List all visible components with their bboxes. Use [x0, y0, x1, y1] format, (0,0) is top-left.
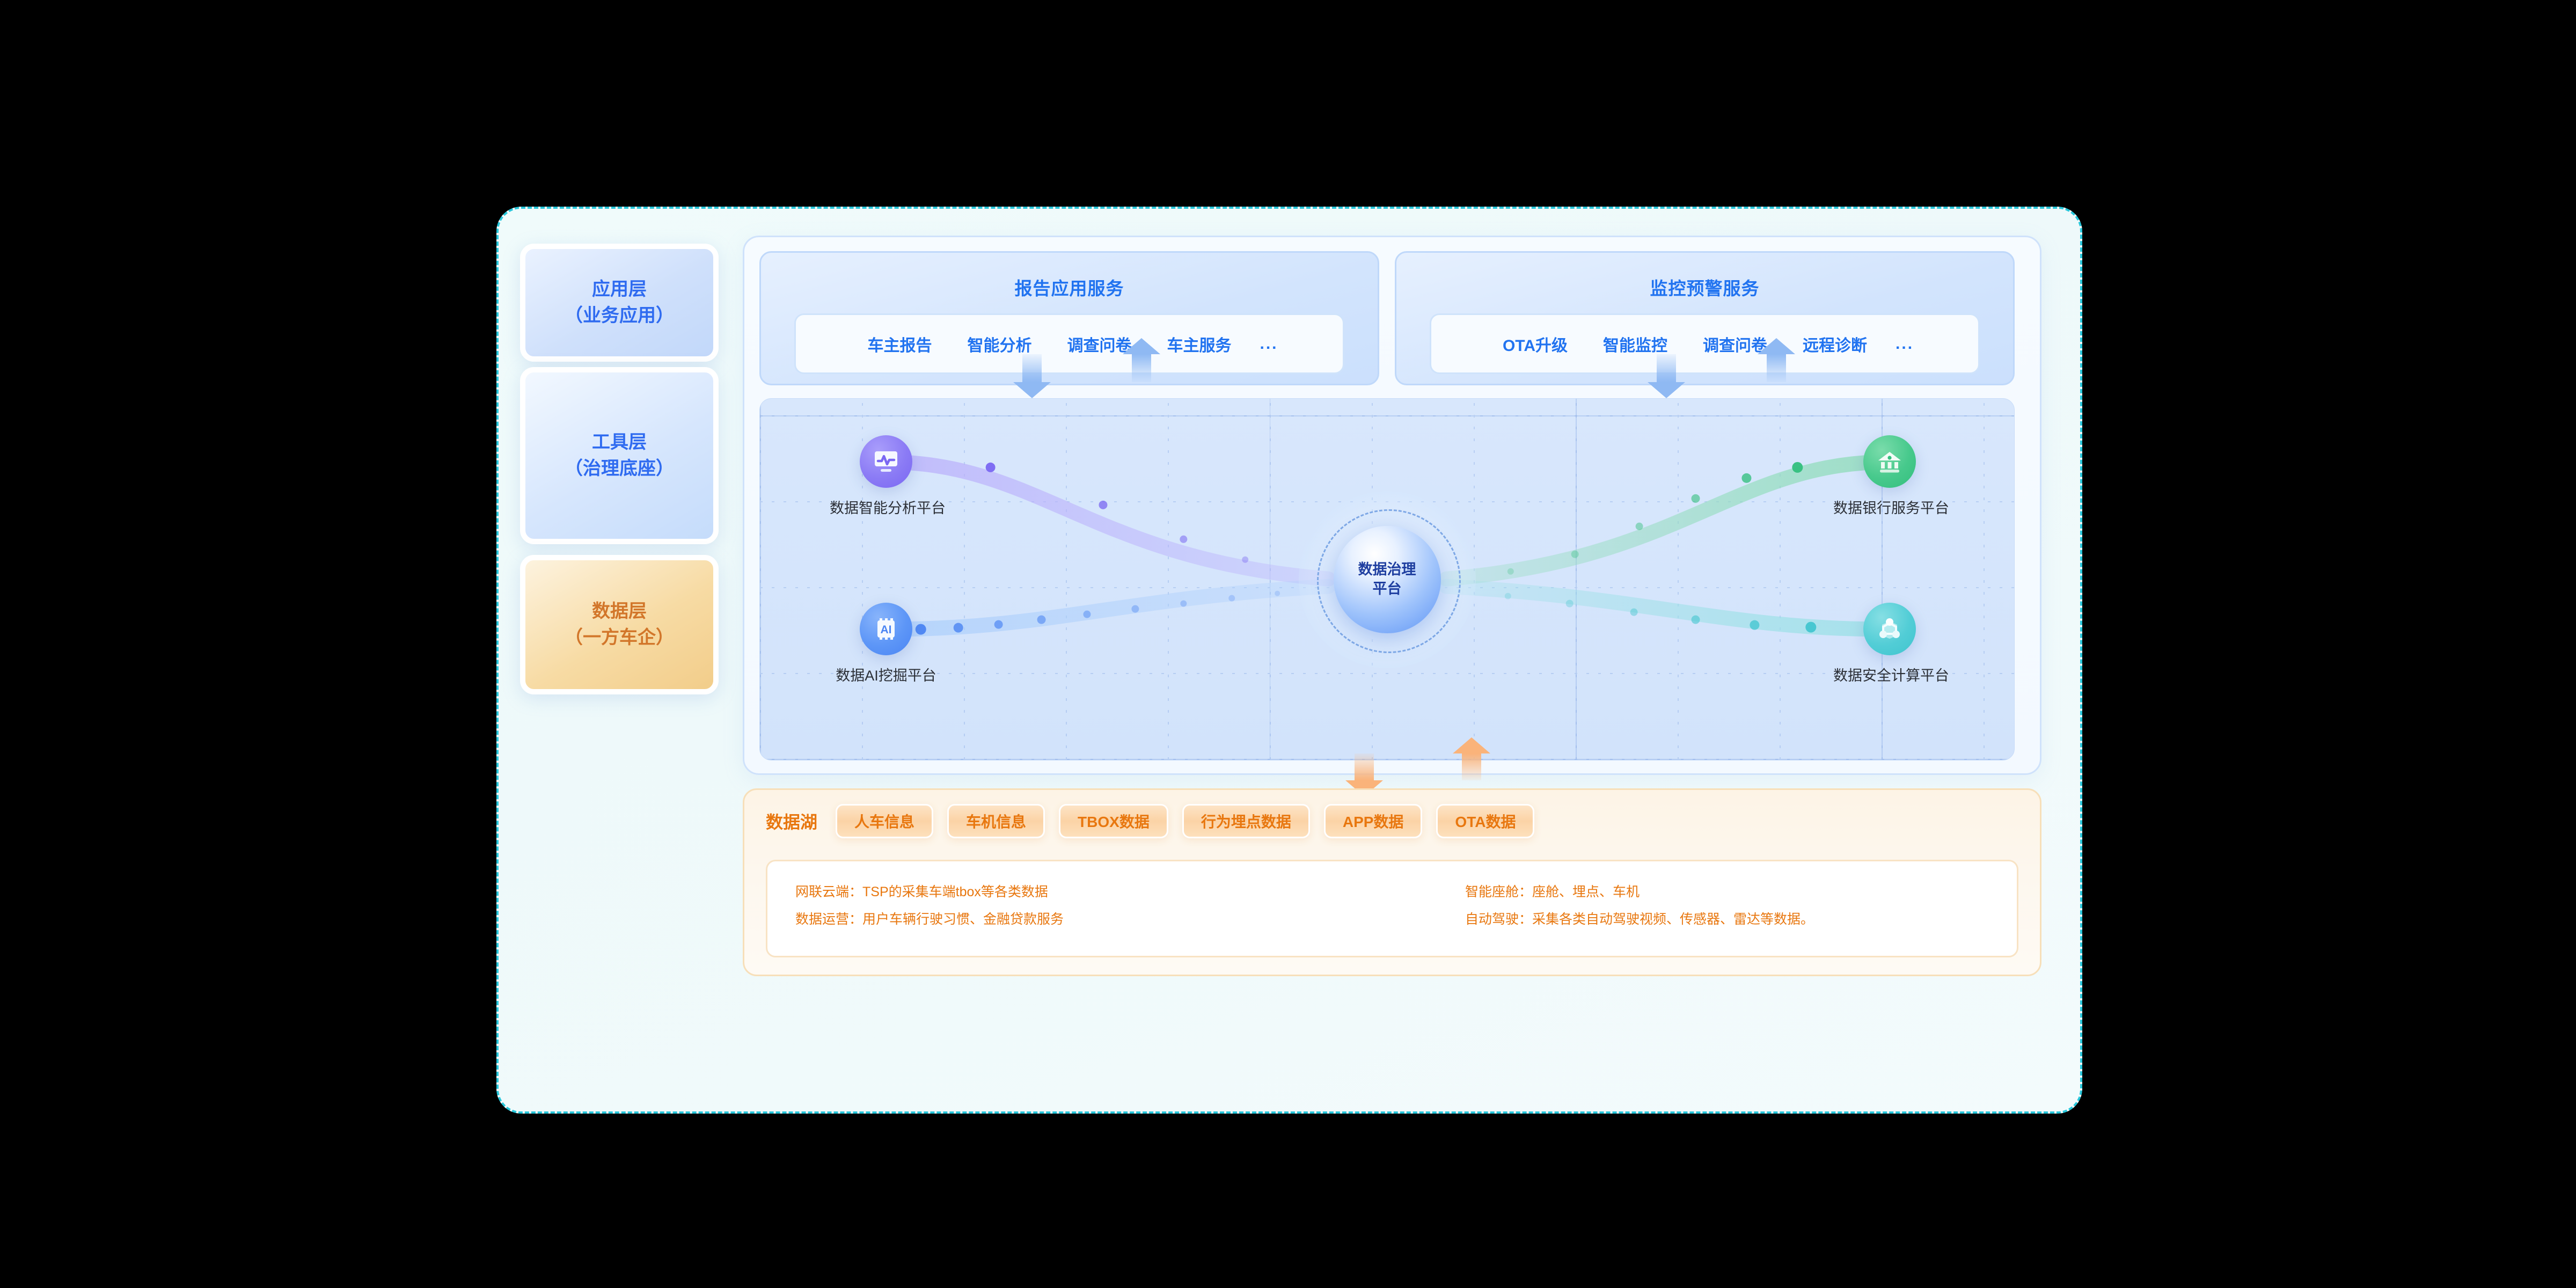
- ai-chip-glyph: AI: [870, 613, 902, 645]
- diagram-canvas: 应用层 （业务应用） 工具层 （治理底座） 数据层 （一方车企） 报告应用服务 …: [0, 0, 2576, 1288]
- monitor-waveform-glyph: [870, 446, 902, 477]
- service-tag[interactable]: 车主报告: [850, 332, 949, 356]
- service-tag[interactable]: 车主服务: [1149, 332, 1249, 356]
- shield-network-glyph: [1874, 613, 1905, 645]
- platform-node-label: 数据AI挖掘平台: [830, 664, 942, 685]
- bank-building-glyph: [1874, 446, 1905, 477]
- description-line: 自动驾驶：采集各类自动驾驶视频、传感器、雷达等数据。: [1465, 906, 1814, 933]
- layer-data-sub: （一方车企）: [565, 625, 674, 651]
- data-lake-tag[interactable]: OTA数据: [1436, 804, 1534, 838]
- data-lake-tag[interactable]: 人车信息: [836, 804, 933, 838]
- platform-node-label: 数据银行服务平台: [1833, 496, 1946, 517]
- layer-chip-data[interactable]: 数据层 （一方车企）: [520, 555, 719, 694]
- layer-application-name: 应用层: [565, 276, 674, 303]
- service-card-monitor-taglist: OTA升级 智能监控 调查问卷 远程诊断 ...: [1430, 313, 1980, 374]
- layer-chip-application[interactable]: 应用层 （业务应用）: [520, 244, 719, 362]
- service-tag-more[interactable]: ...: [1885, 335, 1924, 353]
- arrow-up-icon: [1767, 354, 1786, 382]
- arrow-up-icon: [1462, 753, 1481, 780]
- data-lake-title: 数据湖: [766, 809, 817, 833]
- data-lake-tag-row: 数据湖 人车信息 车机信息 TBOX数据 行为埋点数据 APP数据 OTA数据: [766, 804, 1534, 838]
- data-source-description-box: 网联云端：TSP的采集车端tbox等各类数据 数据运营：用户车辆行驶习惯、金融贷…: [766, 860, 2018, 957]
- hub-label: 数据治理 平台: [1358, 560, 1416, 598]
- layer-chip-tool[interactable]: 工具层 （治理底座）: [520, 367, 719, 544]
- layer-data-name: 数据层: [565, 598, 674, 625]
- monitor-waveform-icon: [860, 435, 912, 488]
- arrow-down-icon: [1355, 753, 1374, 780]
- service-tag-more[interactable]: ...: [1249, 335, 1289, 353]
- arrow-down-icon: [1657, 354, 1676, 382]
- description-line: 网联云端：TSP的采集车端tbox等各类数据: [795, 879, 1064, 906]
- architecture-container: 应用层 （业务应用） 工具层 （治理底座） 数据层 （一方车企） 报告应用服务 …: [496, 207, 2082, 1114]
- data-lake-tag[interactable]: APP数据: [1324, 804, 1423, 838]
- layer-tool-sub: （治理底座）: [565, 456, 674, 482]
- service-tag[interactable]: 远程诊断: [1785, 332, 1885, 356]
- data-lake-tag[interactable]: TBOX数据: [1059, 804, 1168, 838]
- arrow-up-icon: [1132, 354, 1151, 382]
- arrow-down-icon: [1022, 354, 1042, 382]
- service-card-monitor-title: 监控预警服务: [1396, 274, 2013, 300]
- service-card-report[interactable]: 报告应用服务 车主报告 智能分析 调查问卷 车主服务 ...: [759, 251, 1379, 385]
- bank-building-icon: [1863, 435, 1916, 488]
- platform-node-label: 数据安全计算平台: [1833, 664, 1946, 685]
- service-card-monitor[interactable]: 监控预警服务 OTA升级 智能监控 调查问卷 远程诊断 ...: [1395, 251, 2015, 385]
- platform-node-smart-analysis[interactable]: 数据智能分析平台: [830, 435, 942, 517]
- platform-node-ai-mining[interactable]: AI 数据AI挖掘平台: [830, 603, 942, 685]
- service-card-report-title: 报告应用服务: [761, 274, 1378, 300]
- platform-node-label: 数据智能分析平台: [830, 496, 942, 517]
- description-column-right: 智能座舱：座舱、埋点、车机 自动驾驶：采集各类自动驾驶视频、传感器、雷达等数据。: [1465, 879, 1814, 934]
- platform-node-data-bank[interactable]: 数据银行服务平台: [1833, 435, 1946, 517]
- upper-blue-panel: 报告应用服务 车主报告 智能分析 调查问卷 车主服务 ... 监控预警服务 OT…: [743, 236, 2041, 775]
- data-lake-tag[interactable]: 行为埋点数据: [1182, 804, 1310, 838]
- service-tag[interactable]: 智能分析: [949, 332, 1049, 356]
- tool-layer-canvas: 数据治理 平台 数据智能分析平台: [759, 398, 2015, 760]
- service-card-report-taglist: 车主报告 智能分析 调查问卷 车主服务 ...: [794, 313, 1344, 374]
- ai-chip-icon: AI: [860, 603, 912, 655]
- data-lake-panel: 数据湖 人车信息 车机信息 TBOX数据 行为埋点数据 APP数据 OTA数据 …: [743, 788, 2041, 976]
- data-governance-platform-hub[interactable]: 数据治理 平台: [1334, 526, 1441, 633]
- description-line: 数据运营：用户车辆行驶习惯、金融贷款服务: [795, 906, 1064, 933]
- service-tag[interactable]: 智能监控: [1585, 332, 1685, 356]
- description-column-left: 网联云端：TSP的采集车端tbox等各类数据 数据运营：用户车辆行驶习惯、金融贷…: [795, 879, 1064, 934]
- shield-network-icon: [1863, 603, 1916, 655]
- description-line: 智能座舱：座舱、埋点、车机: [1465, 879, 1814, 906]
- layer-tool-name: 工具层: [565, 429, 674, 456]
- layer-application-sub: （业务应用）: [565, 303, 674, 329]
- data-lake-tag[interactable]: 车机信息: [947, 804, 1045, 838]
- platform-node-secure-compute[interactable]: 数据安全计算平台: [1833, 603, 1946, 685]
- service-tag[interactable]: OTA升级: [1485, 332, 1585, 356]
- svg-text:AI: AI: [881, 624, 892, 636]
